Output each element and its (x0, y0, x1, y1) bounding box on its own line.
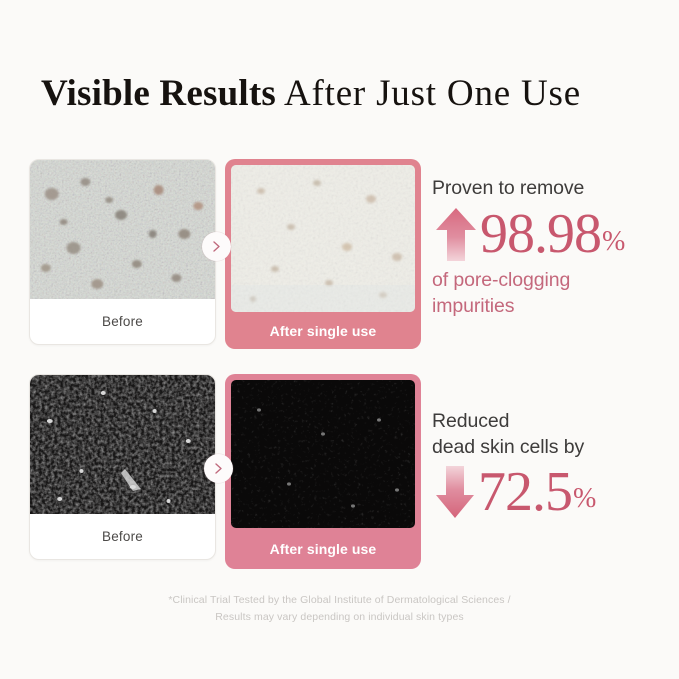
footnote-line-1: *Clinical Trial Tested by the Global Ins… (0, 592, 679, 609)
after-card: After single use (225, 374, 421, 569)
after-card: After single use (225, 159, 421, 349)
before-skin-image (30, 375, 215, 514)
comparison-cards: Before (29, 159, 421, 349)
stat-impurities: Proven to remove 98.98 % of pore-cloggin… (432, 175, 625, 319)
after-caption: After single use (231, 528, 415, 569)
chevron-right-icon (204, 454, 233, 483)
comparison-row-impurities: Before (29, 159, 421, 349)
after-skin-image (231, 380, 415, 528)
stat-unit: % (573, 483, 596, 522)
before-caption: Before (30, 299, 215, 344)
before-card: Before (29, 159, 216, 345)
results-infographic: Visible Results After Just One Use (0, 0, 679, 679)
page-title-strong: Visible Results (41, 73, 276, 114)
stat-number: 98.98 (480, 205, 601, 263)
stat-lead-line: Reduced (432, 410, 509, 432)
before-skin-image (30, 160, 215, 299)
footnote-line-2: Results may vary depending on individual… (0, 609, 679, 626)
stat-number: 72.5 (478, 463, 572, 521)
stat-dead-skin: Reduced dead skin cells by 72.5 % (432, 408, 596, 522)
stat-lead-line: dead skin cells by (432, 436, 584, 458)
stat-tail-line: impurities (432, 293, 625, 319)
stat-figure: 72.5 % (432, 462, 596, 522)
arrow-up-icon (432, 203, 480, 265)
page-title: Visible Results After Just One Use (41, 72, 581, 115)
stat-tail-line: of pore-clogging (432, 267, 625, 293)
stat-lead-text: Proven to remove (432, 175, 625, 201)
chevron-right-icon (202, 232, 231, 261)
footnote-disclaimer: *Clinical Trial Tested by the Global Ins… (0, 592, 679, 626)
after-skin-image (231, 165, 415, 312)
arrow-down-icon (432, 462, 478, 522)
after-caption: After single use (231, 312, 415, 349)
before-caption: Before (30, 514, 215, 559)
stat-figure: 98.98 % (432, 203, 625, 265)
stat-unit: % (602, 226, 625, 265)
stat-tail-text: of pore-clogging impurities (432, 267, 625, 319)
comparison-cards: Before (29, 374, 421, 569)
page-title-light: After Just One Use (276, 73, 581, 114)
before-card: Before (29, 374, 216, 560)
comparison-row-dead-skin: Before (29, 374, 421, 569)
stat-lead-text: Reduced dead skin cells by (432, 408, 596, 460)
